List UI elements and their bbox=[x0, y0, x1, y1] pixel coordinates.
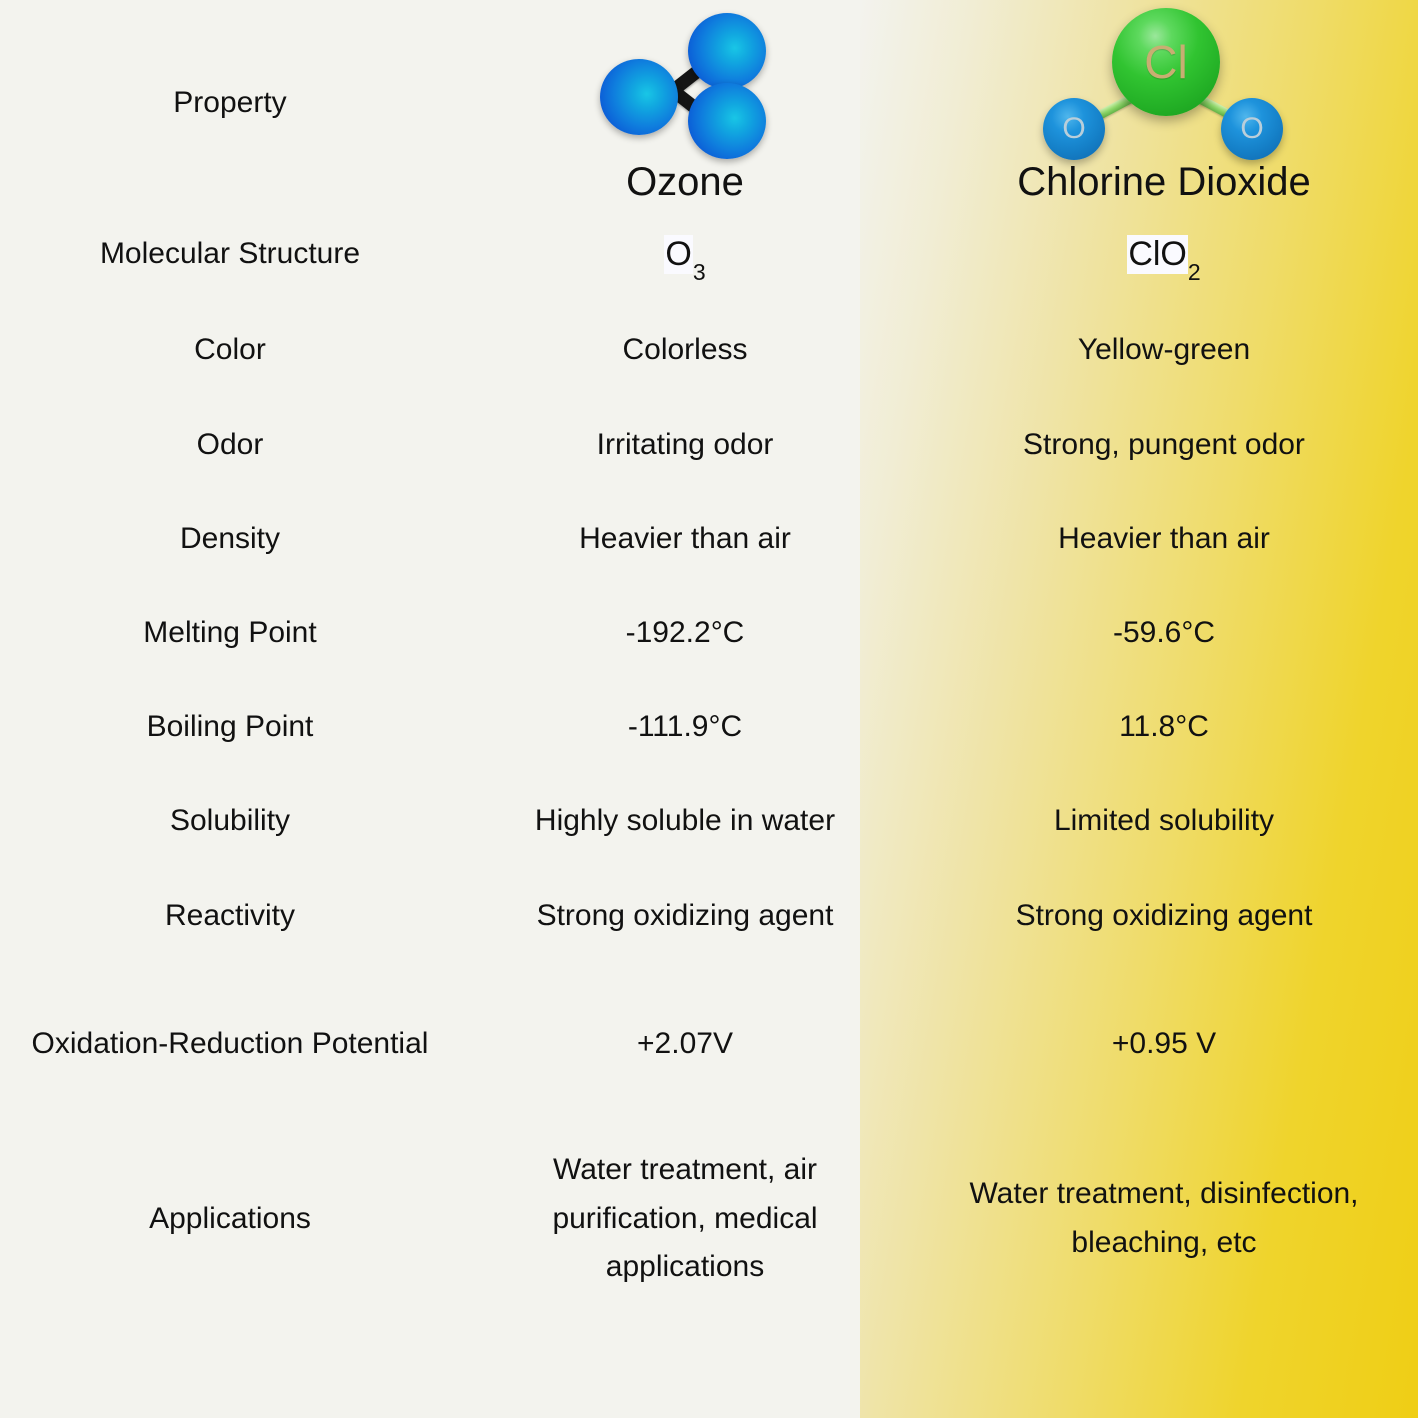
clo2-atom-oxygen-right: O bbox=[1221, 98, 1283, 160]
cell-chlorine-dioxide-color: Yellow-green bbox=[910, 302, 1418, 398]
chlorine-dioxide-formula: ClO2 bbox=[1127, 235, 1200, 274]
label-text: Applications bbox=[149, 1199, 311, 1239]
cell-chlorine-dioxide-applications: Water treatment, disinfection, bleaching… bbox=[910, 1124, 1418, 1314]
cell-ozone-boiling-point: -111.9°C bbox=[460, 680, 910, 774]
ozone-column-title: Ozone bbox=[626, 160, 744, 204]
label-text: Color bbox=[194, 330, 266, 370]
value-text: -59.6°C bbox=[1113, 613, 1215, 653]
row-label-color: Color bbox=[0, 302, 460, 398]
row-label-molecular-structure: Molecular Structure bbox=[0, 206, 460, 302]
ozone-atom-center bbox=[600, 59, 678, 135]
value-text: Water treatment, disinfection, bleaching… bbox=[924, 1170, 1404, 1267]
clo2-oxygen-left-label: O bbox=[1062, 114, 1085, 144]
ozone-molecule-illustration bbox=[468, 16, 902, 156]
ozone-formula-subscript: 3 bbox=[693, 261, 706, 284]
clo2-oxygen-right-label: O bbox=[1240, 114, 1263, 144]
value-text: Strong oxidizing agent bbox=[537, 896, 834, 936]
label-text: Oxidation-Reduction Potential bbox=[32, 1024, 429, 1064]
cell-ozone-melting-point: -192.2°C bbox=[460, 586, 910, 680]
value-text: Heavier than air bbox=[1058, 519, 1270, 559]
value-text: Highly soluble in water bbox=[535, 801, 835, 841]
cell-chlorine-dioxide-oxidation-reduction-potential: +0.95 V bbox=[910, 964, 1418, 1124]
row-label-boiling-point: Boiling Point bbox=[0, 680, 460, 774]
cell-ozone-color: Colorless bbox=[460, 302, 910, 398]
ozone-formula: O3 bbox=[664, 235, 705, 274]
chlorine-dioxide-formula-subscript: 2 bbox=[1188, 261, 1201, 284]
cell-chlorine-dioxide-solubility: Limited solubility bbox=[910, 774, 1418, 868]
value-text: Heavier than air bbox=[579, 519, 791, 559]
cell-ozone-reactivity: Strong oxidizing agent bbox=[460, 868, 910, 964]
row-label-reactivity: Reactivity bbox=[0, 868, 460, 964]
cell-chlorine-dioxide-molecular-structure: ClO2 bbox=[910, 206, 1418, 302]
row-label-applications: Applications bbox=[0, 1124, 460, 1314]
cell-ozone-odor: Irritating odor bbox=[460, 398, 910, 492]
cell-ozone-oxidation-reduction-potential: +2.07V bbox=[460, 964, 910, 1124]
ozone-atom-bottom bbox=[688, 83, 766, 159]
comparison-table: Property Ozone O O bbox=[0, 0, 1418, 1418]
value-text: 11.8°C bbox=[1119, 707, 1209, 747]
value-text: Irritating odor bbox=[597, 425, 774, 465]
value-text: Colorless bbox=[622, 330, 747, 370]
cell-ozone-applications: Water treatment, air purification, medic… bbox=[460, 1124, 910, 1314]
chlorine-dioxide-column-title: Chlorine Dioxide bbox=[1017, 160, 1310, 204]
label-text: Density bbox=[180, 519, 280, 559]
row-label-odor: Odor bbox=[0, 398, 460, 492]
header-ozone: Ozone bbox=[460, 0, 910, 206]
chlorine-dioxide-molecule-illustration: O O Cl bbox=[918, 16, 1410, 156]
clo2-chlorine-label: Cl bbox=[1144, 39, 1187, 85]
cell-ozone-solubility: Highly soluble in water bbox=[460, 774, 910, 868]
row-label-melting-point: Melting Point bbox=[0, 586, 460, 680]
value-text: +0.95 V bbox=[1112, 1024, 1216, 1064]
cell-ozone-density: Heavier than air bbox=[460, 492, 910, 586]
row-label-solubility: Solubility bbox=[0, 774, 460, 868]
clo2-atom-chlorine: Cl bbox=[1112, 8, 1220, 116]
label-text: Reactivity bbox=[165, 896, 295, 936]
value-text: Yellow-green bbox=[1078, 330, 1250, 370]
value-text: -111.9°C bbox=[628, 707, 742, 747]
ozone-molecule bbox=[600, 11, 770, 161]
value-text: Water treatment, air purification, medic… bbox=[505, 1146, 865, 1292]
value-text: Strong oxidizing agent bbox=[1016, 896, 1313, 936]
label-text: Boiling Point bbox=[147, 707, 314, 747]
value-text: Strong, pungent odor bbox=[1023, 425, 1305, 465]
clo2-atom-oxygen-left: O bbox=[1043, 98, 1105, 160]
cell-chlorine-dioxide-reactivity: Strong oxidizing agent bbox=[910, 868, 1418, 964]
label-text: Solubility bbox=[170, 801, 290, 841]
value-text: -192.2°C bbox=[626, 613, 745, 653]
cell-chlorine-dioxide-density: Heavier than air bbox=[910, 492, 1418, 586]
chlorine-dioxide-molecule: O O Cl bbox=[1039, 6, 1289, 166]
label-text: Odor bbox=[197, 425, 264, 465]
row-label-density: Density bbox=[0, 492, 460, 586]
cell-chlorine-dioxide-odor: Strong, pungent odor bbox=[910, 398, 1418, 492]
chlorine-dioxide-formula-base: ClO bbox=[1127, 235, 1188, 274]
cell-ozone-molecular-structure: O3 bbox=[460, 206, 910, 302]
header-chlorine-dioxide: O O Cl Chlorine Dioxide bbox=[910, 0, 1418, 206]
label-text: Molecular Structure bbox=[100, 234, 360, 274]
value-text: Limited solubility bbox=[1054, 801, 1274, 841]
header-property-label: Property bbox=[0, 0, 460, 206]
label-text: Melting Point bbox=[143, 613, 316, 653]
cell-chlorine-dioxide-boiling-point: 11.8°C bbox=[910, 680, 1418, 774]
value-text: +2.07V bbox=[637, 1024, 733, 1064]
ozone-atom-top bbox=[688, 13, 766, 89]
cell-chlorine-dioxide-melting-point: -59.6°C bbox=[910, 586, 1418, 680]
row-label-oxidation-reduction-potential: Oxidation-Reduction Potential bbox=[0, 964, 460, 1124]
ozone-formula-base: O bbox=[664, 235, 692, 274]
property-column-title: Property bbox=[173, 83, 286, 123]
